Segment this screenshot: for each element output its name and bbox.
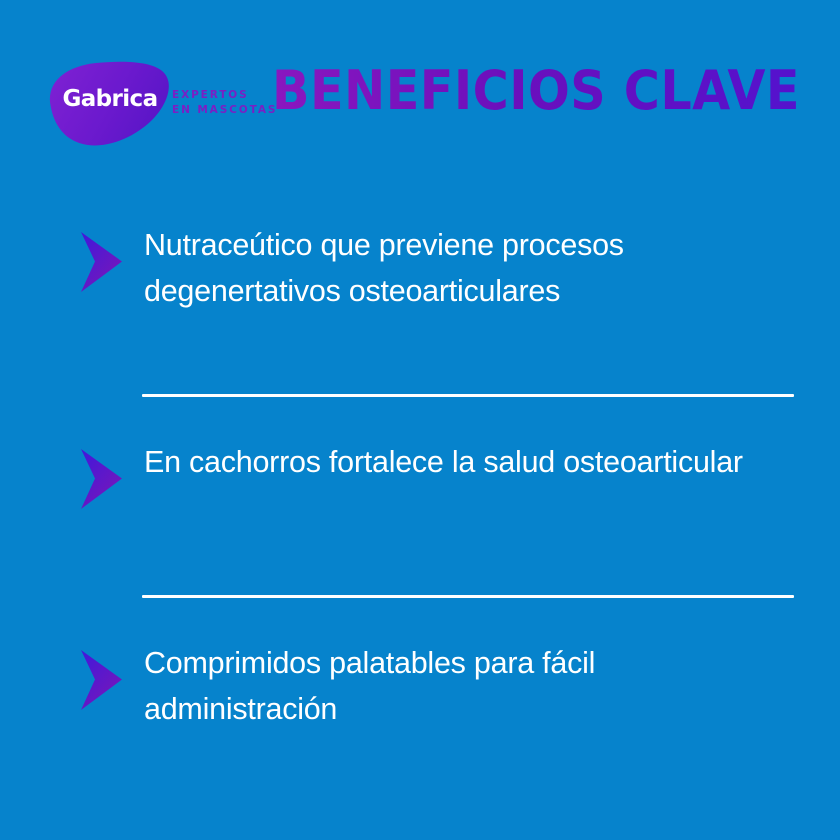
benefit-item: Comprimidos palatables para fácil admini… xyxy=(0,640,840,750)
benefit-text: Nutraceútico que previene procesos degen… xyxy=(144,222,840,315)
benefit-text: Comprimidos palatables para fácil admini… xyxy=(144,640,840,733)
chevron-arrow-icon xyxy=(78,230,124,294)
page-title-graphic: BENEFICIOS CLAVE xyxy=(272,62,802,124)
benefit-text: En cachorros fortalece la salud osteoart… xyxy=(144,439,840,485)
brand-logo-lockup: Gabrica EXPERTOS EN MASCOTAS xyxy=(44,58,274,150)
brand-wordmark: Gabrica xyxy=(60,88,160,111)
chevron-arrow-shape xyxy=(78,447,124,511)
brand-tagline: EXPERTOS EN MASCOTAS xyxy=(172,88,277,118)
brand-tagline-line1: EXPERTOS xyxy=(172,88,277,103)
chevron-arrow-shape xyxy=(78,648,124,712)
page-title-text: BENEFICIOS CLAVE xyxy=(272,62,800,122)
brand-tagline-line2: EN MASCOTAS xyxy=(172,103,277,118)
promo-graphic-canvas: Gabrica EXPERTOS EN MASCOTAS BENEFICIOS … xyxy=(0,0,840,840)
benefit-item: Nutraceútico que previene procesos degen… xyxy=(0,222,840,332)
chevron-arrow-icon xyxy=(78,648,124,712)
benefits-list: Nutraceútico que previene procesos degen… xyxy=(0,168,840,750)
header: Gabrica EXPERTOS EN MASCOTAS BENEFICIOS … xyxy=(0,0,840,168)
benefit-item: En cachorros fortalece la salud osteoart… xyxy=(0,439,840,549)
page-title: BENEFICIOS CLAVE xyxy=(272,62,802,124)
chevron-arrow-icon xyxy=(78,447,124,511)
chevron-arrow-shape xyxy=(78,230,124,294)
